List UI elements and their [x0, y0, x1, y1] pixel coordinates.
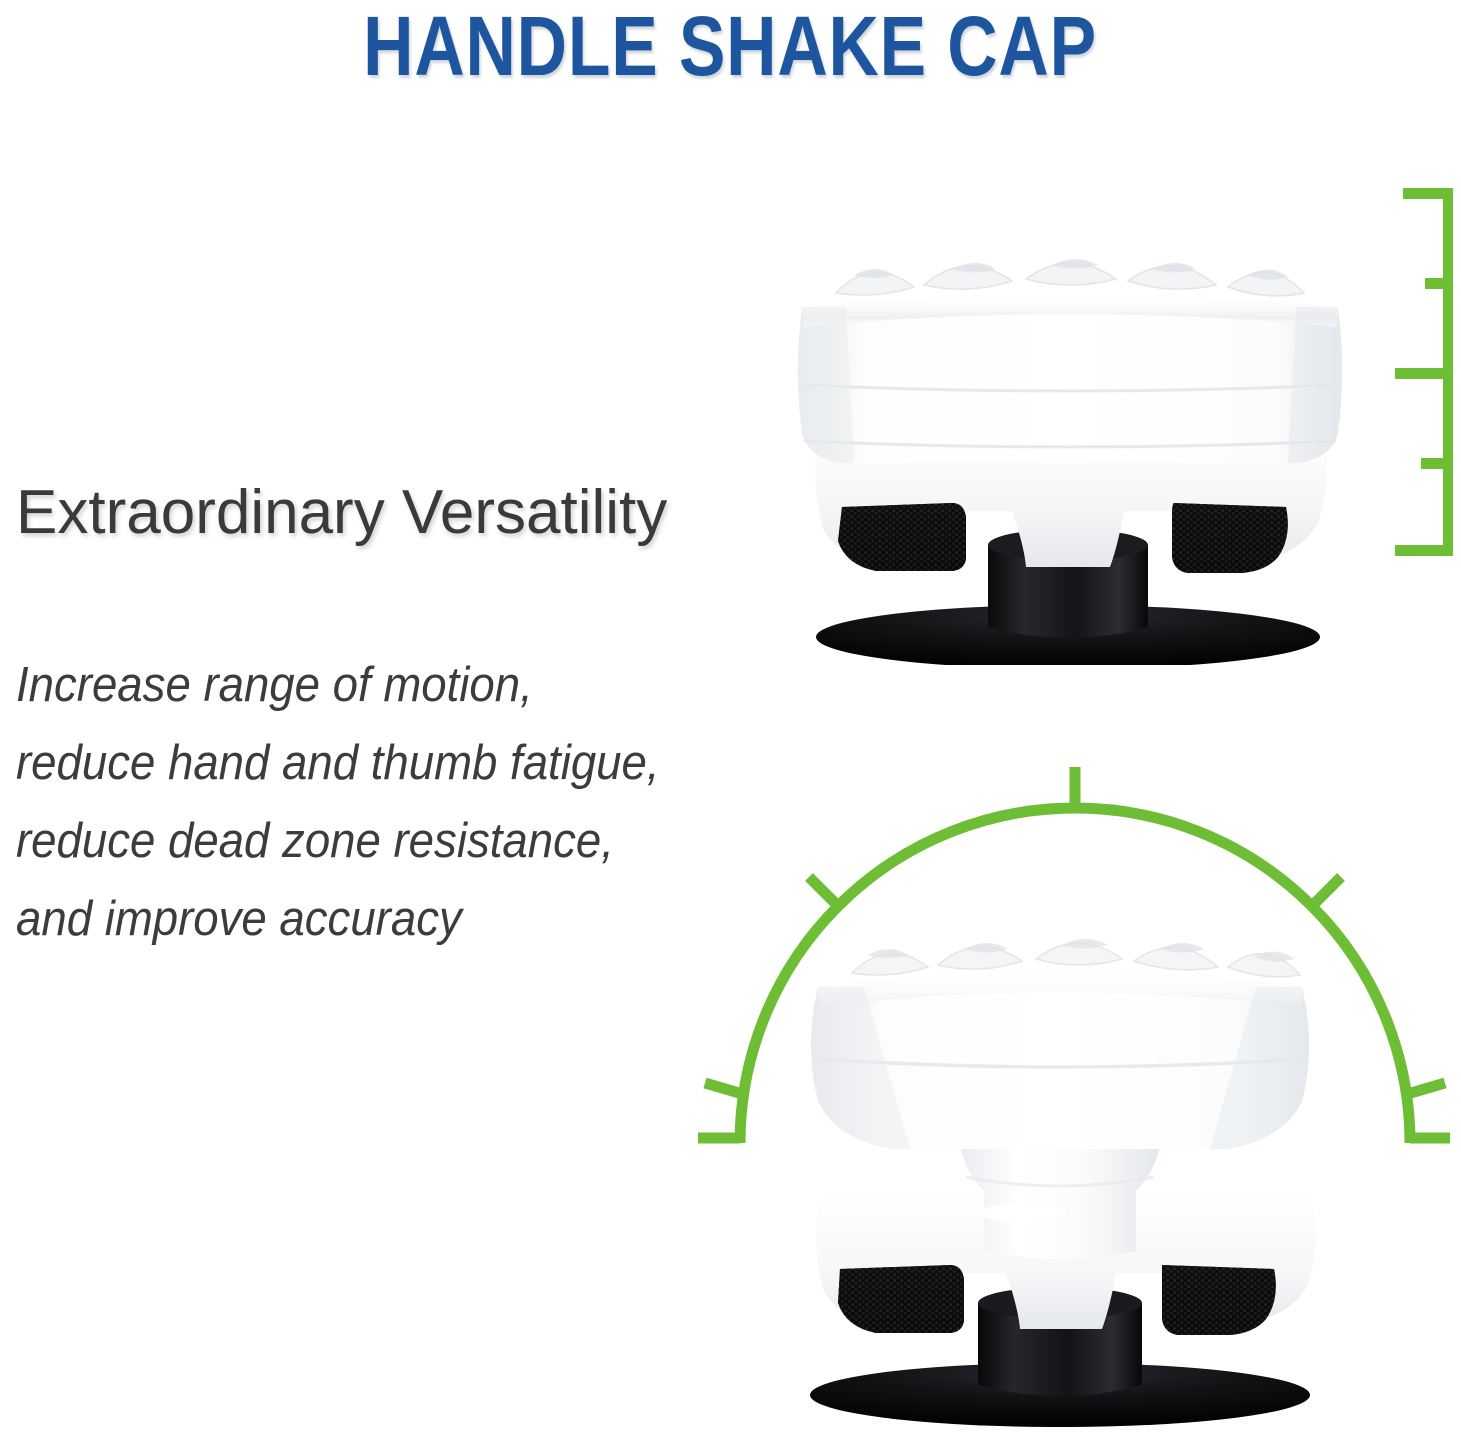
body-line: reduce hand and thumb fatigue,: [16, 724, 760, 802]
product-image-lower: [760, 895, 1380, 1434]
banner: HANDLE SHAKE CAP: [0, 0, 1461, 95]
thumbstick-cap-low-profile-illustration: [780, 245, 1360, 665]
page-title: HANDLE SHAKE CAP: [364, 0, 1098, 90]
headline: Extraordinary Versatility: [16, 478, 667, 548]
body-line: reduce dead zone resistance,: [16, 802, 760, 880]
thumbstick-cap-tall-profile-illustration: [760, 895, 1380, 1434]
product-image-upper: [780, 245, 1360, 665]
body-copy: Increase range of motion, reduce hand an…: [16, 646, 760, 958]
body-line: and improve accuracy: [16, 880, 760, 958]
body-line: Increase range of motion,: [16, 646, 760, 724]
height-ruler-icon: [1385, 170, 1461, 570]
product-feature-page: HANDLE SHAKE CAP Extraordinary Versatili…: [0, 0, 1461, 1434]
